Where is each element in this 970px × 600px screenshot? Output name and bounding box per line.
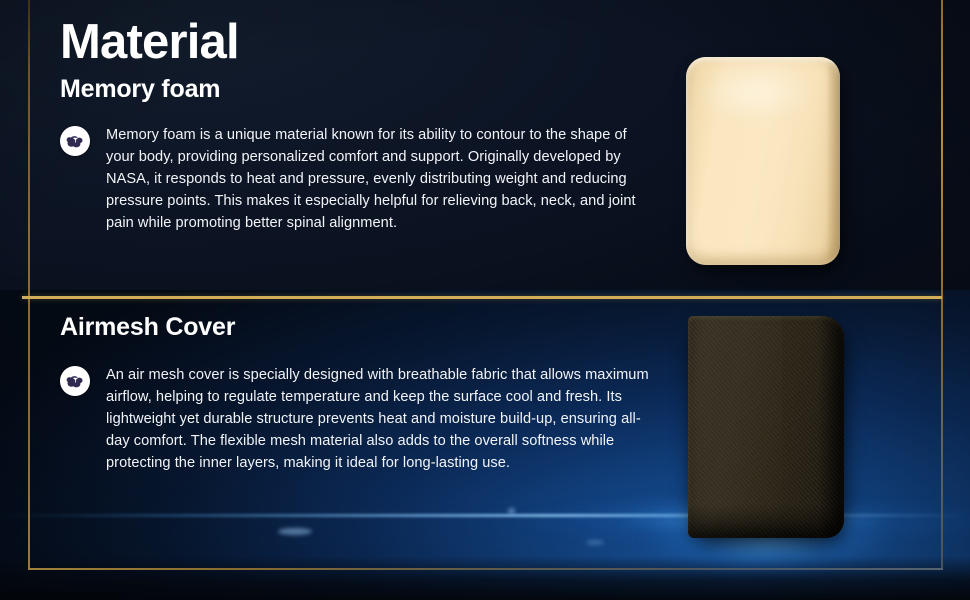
- product-feature-banner: Material Memory foam Memo: [0, 0, 970, 600]
- section-subtitle-airmesh-cover: Airmesh Cover: [60, 315, 660, 340]
- section-airmesh-cover: Airmesh Cover An air mesh cover: [60, 315, 660, 474]
- memory-foam-description-row: Memory foam is a unique material known f…: [60, 124, 640, 234]
- cloud-blob-icon: [60, 366, 90, 396]
- cloud-blob-icon: [60, 126, 90, 156]
- section-memory-foam: Material Memory foam Memo: [60, 18, 640, 234]
- page-title: Material: [60, 18, 640, 67]
- memory-foam-description: Memory foam is a unique material known f…: [106, 124, 640, 234]
- airmesh-description: An air mesh cover is specially designed …: [106, 364, 660, 474]
- banner-content: Material Memory foam Memo: [0, 0, 970, 600]
- airmesh-description-row: An air mesh cover is specially designed …: [60, 364, 660, 474]
- section-subtitle-memory-foam: Memory foam: [60, 77, 640, 102]
